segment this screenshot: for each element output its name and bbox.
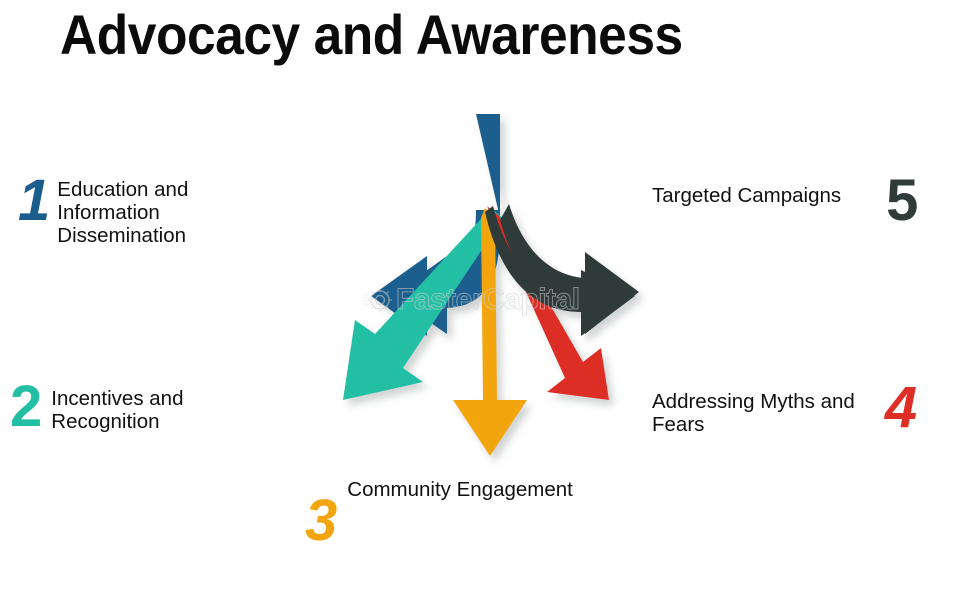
infographic-canvas: Advocacy and Awareness [0,0,963,603]
item-number-3: 3 [305,494,337,547]
item-number-1: 1 [18,174,50,227]
item-label-5: Targeted Campaigns [652,184,841,207]
list-item-2: 2 Incentives and Recognition [10,380,183,433]
item-number-2: 2 [10,380,42,433]
page-title: Advocacy and Awareness [60,2,683,67]
item-number-5: 5 [886,174,918,227]
list-item-4: Addressing Myths and Fears 4 [652,383,917,436]
item-label-4: Addressing Myths and Fears [652,390,855,436]
list-item-5: Targeted Campaigns 5 [652,176,918,227]
list-item-3: 3 Community Engagement [305,470,573,547]
item-label-2: Incentives and Recognition [51,387,183,433]
item-number-4: 4 [885,381,917,434]
item-label-3: Community Engagement [347,478,573,501]
diverging-arrows-diagram [295,100,665,490]
list-item-1: 1 Education and Information Disseminatio… [18,172,188,247]
arrow-down-left-teal [343,208,503,400]
item-label-1: Education and Information Dissemination [57,178,188,247]
